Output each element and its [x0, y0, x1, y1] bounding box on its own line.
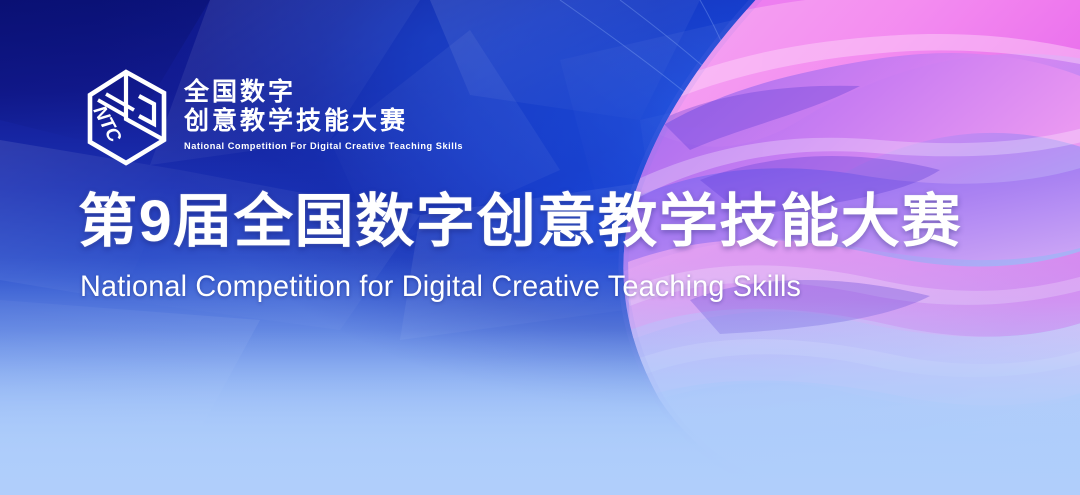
subtitle-english: National Competition for Digital Creativ… — [80, 270, 801, 304]
logo-ntc-letters: NTC — [89, 102, 126, 146]
logo-text-block: 全国数字 创意教学技能大赛 National Competition For D… — [184, 66, 472, 152]
logo-english-line: National Competition For Digital Creativ… — [184, 141, 463, 152]
ntc-isometric-book-logo-icon: NTC — [82, 66, 170, 170]
main-title-chinese: 第9届全国数字创意教学技能大赛 — [78, 193, 1078, 251]
logo-lockup: NTC 全国数字 创意教学技能大赛 National Competition F… — [82, 66, 472, 170]
event-banner: NTC 全国数字 创意教学技能大赛 National Competition F… — [0, 0, 1080, 495]
logo-chinese-line-2: 创意教学技能大赛 — [184, 107, 472, 136]
logo-chinese-line-1: 全国数字 — [184, 78, 472, 107]
